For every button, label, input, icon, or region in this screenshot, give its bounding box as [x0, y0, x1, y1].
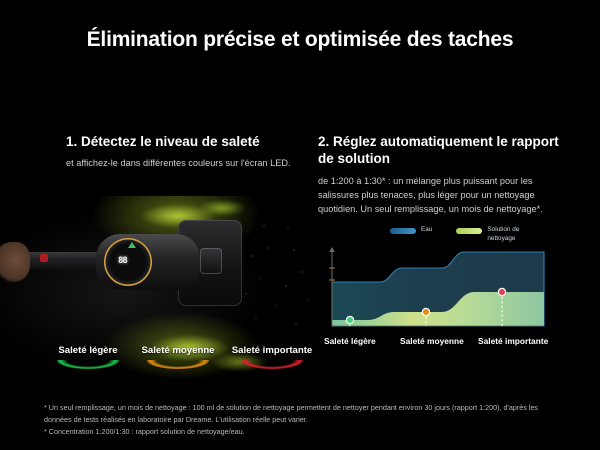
dirt-level-light-arc-icon: [57, 360, 119, 369]
solution-ratio-chart: Eau Solution de nettoyage: [318, 226, 570, 344]
step-2-body: de 1:200 à 1:30* : un mélange plus puiss…: [318, 175, 568, 217]
dirt-level-legend: Saleté légère Saleté moyenne Saleté impo…: [0, 345, 312, 391]
legend-label-solution: Solution de nettoyage: [487, 226, 529, 243]
footnote-1: * Un seul remplissage, un mois de nettoy…: [44, 402, 564, 426]
chart-xlabel-light: Saleté légère: [324, 336, 376, 346]
step-2-heading: 2. Réglez automatiquement le rapport de …: [318, 133, 568, 168]
dirt-level-medium-arc-icon: [147, 360, 209, 369]
page-title: Élimination précise et optimisée des tac…: [0, 28, 600, 52]
led-display-value: 88: [118, 256, 140, 268]
dirt-level-heavy: Saleté importante: [210, 345, 334, 369]
chart-x-labels: Saleté légère Saleté moyenne Saleté impo…: [318, 336, 570, 350]
chart-marker-heavy[interactable]: [498, 288, 505, 295]
promo-slide: Élimination précise et optimisée des tac…: [0, 0, 600, 450]
trigger-icon: [40, 254, 48, 262]
hand-icon: [0, 242, 30, 282]
legend-item-eau: Eau: [390, 226, 432, 243]
cleaner-head-vent-icon: [200, 248, 222, 274]
dirt-level-heavy-arc-icon: [241, 360, 303, 369]
footnote-2: * Concentration 1:200/1:30 : rapport sol…: [44, 426, 564, 438]
brown-debris-particles: [238, 220, 312, 340]
led-arrow-icon: [128, 242, 136, 248]
step-1-heading: 1. Détectez le niveau de saleté: [66, 133, 306, 150]
chart-marker-medium[interactable]: [422, 308, 429, 315]
chart-svg: [324, 246, 552, 332]
chart-y-axis-arrow-icon: [329, 247, 335, 252]
step-1-body: et affichez-le dans différentes couleurs…: [66, 157, 306, 171]
chart-legend: Eau Solution de nettoyage: [390, 226, 529, 243]
chart-xlabel-heavy: Saleté importante: [478, 336, 548, 346]
chart-xlabel-medium: Saleté moyenne: [400, 336, 464, 346]
legend-swatch-solution-icon: [456, 228, 482, 234]
legend-item-solution: Solution de nettoyage: [456, 226, 529, 243]
step-2-text-block: 2. Réglez automatiquement le rapport de …: [318, 133, 568, 216]
chart-marker-light[interactable]: [346, 316, 353, 323]
dirt-level-heavy-label: Saleté importante: [210, 345, 334, 356]
chart-plot-area: [324, 246, 552, 330]
footnotes: * Un seul remplissage, un mois de nettoy…: [44, 402, 564, 438]
step-1-text-block: 1. Détectez le niveau de saleté et affic…: [66, 133, 306, 171]
legend-label-eau: Eau: [421, 226, 432, 235]
legend-swatch-eau-icon: [390, 228, 416, 234]
